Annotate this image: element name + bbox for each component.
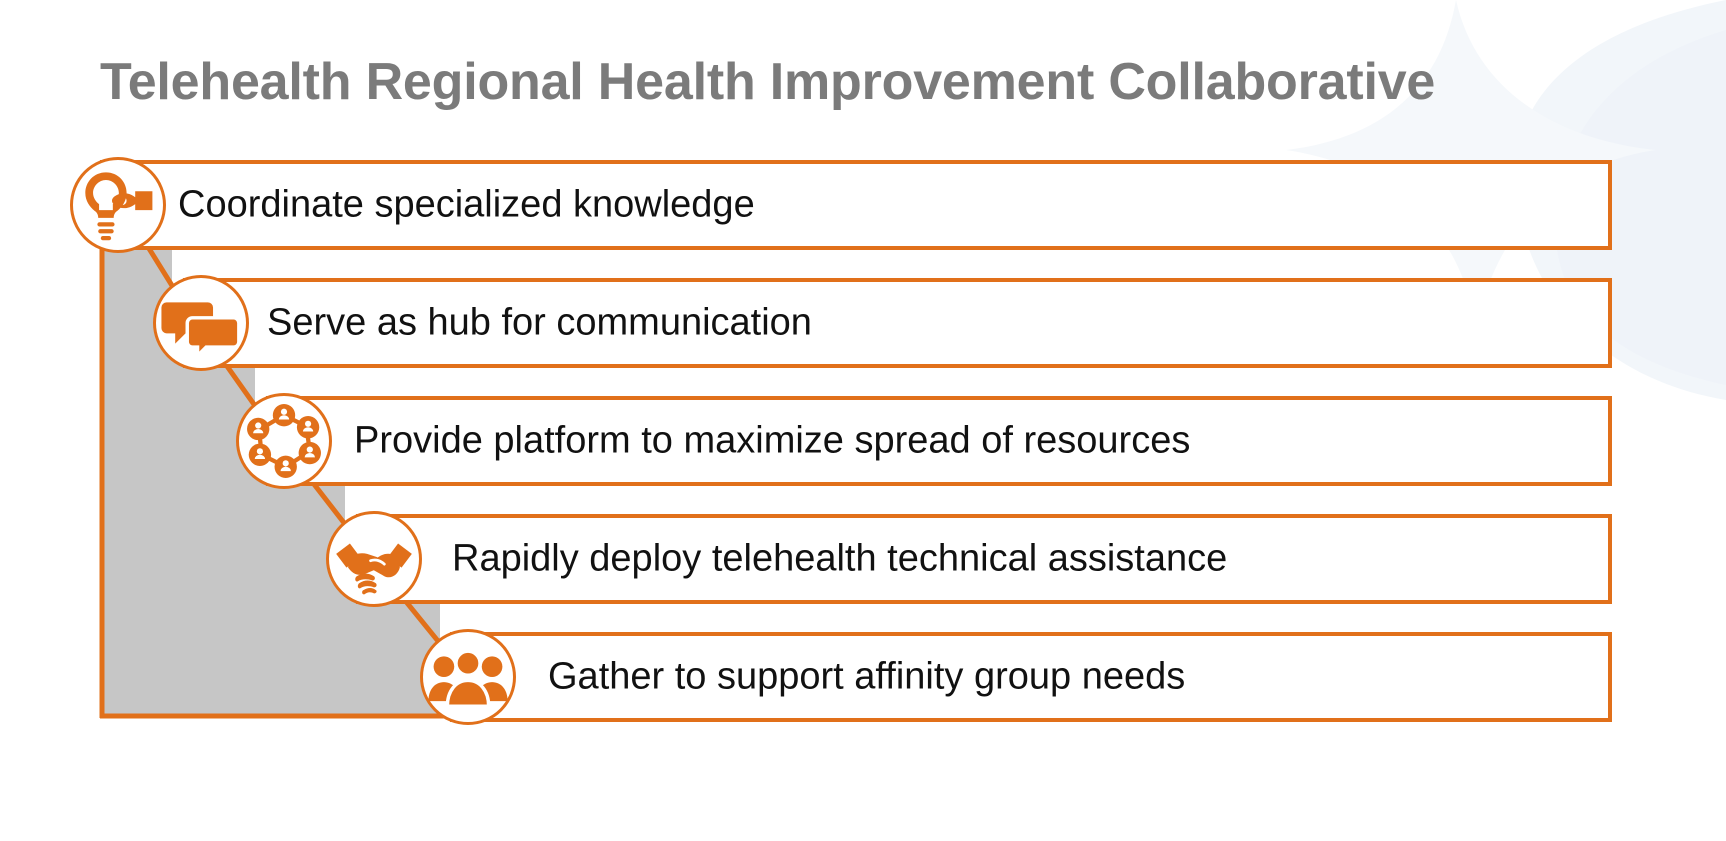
step-label-5: Gather to support affinity group needs <box>548 656 1185 699</box>
people-network-icon <box>236 393 332 489</box>
step-row-4[interactable]: Rapidly deploy telehealth technical assi… <box>356 514 1612 604</box>
step-label-1: Coordinate specialized knowledge <box>178 184 755 227</box>
people-group-icon <box>420 629 516 725</box>
slide-canvas: Telehealth Regional Health Improvement C… <box>0 0 1726 841</box>
step-label-4: Rapidly deploy telehealth technical assi… <box>452 538 1227 581</box>
step-row-5[interactable]: Gather to support affinity group needs <box>450 632 1612 722</box>
handshake-icon <box>326 511 422 607</box>
step-label-3: Provide platform to maximize spread of r… <box>354 420 1190 463</box>
lightbulb-plug-icon <box>70 157 166 253</box>
step-row-1[interactable]: Coordinate specialized knowledge <box>100 160 1612 250</box>
speech-bubbles-icon <box>153 275 249 371</box>
step-row-2[interactable]: Serve as hub for communication <box>183 278 1612 368</box>
step-row-3[interactable]: Provide platform to maximize spread of r… <box>266 396 1612 486</box>
step-label-2: Serve as hub for communication <box>267 302 812 345</box>
